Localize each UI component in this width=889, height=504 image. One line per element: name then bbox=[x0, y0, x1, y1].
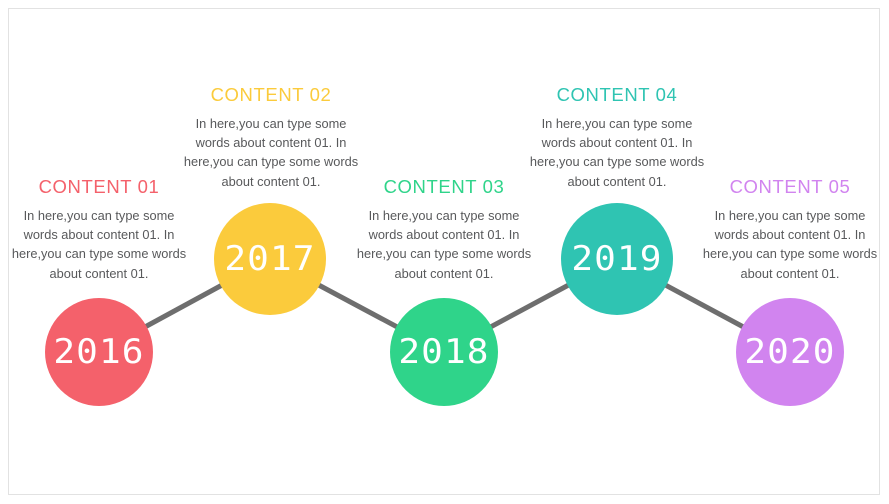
timeline-node-2020[interactable]: 2020 bbox=[736, 298, 844, 406]
content-body-4: In here,you can type some words about co… bbox=[527, 114, 707, 191]
timeline-node-2018[interactable]: 2018 bbox=[390, 298, 498, 406]
content-block-2: CONTENT 02 In here,you can type some wor… bbox=[181, 84, 361, 191]
content-body-2: In here,you can type some words about co… bbox=[181, 114, 361, 191]
node-year-label: 2020 bbox=[744, 335, 835, 369]
content-block-1: CONTENT 01 In here,you can type some wor… bbox=[9, 176, 189, 283]
node-year-label: 2018 bbox=[398, 335, 489, 369]
content-body-5: In here,you can type some words about co… bbox=[700, 206, 880, 283]
content-body-3: In here,you can type some words about co… bbox=[354, 206, 534, 283]
content-title-3: CONTENT 03 bbox=[354, 176, 534, 198]
content-block-4: CONTENT 04 In here,you can type some wor… bbox=[527, 84, 707, 191]
node-year-label: 2019 bbox=[571, 242, 662, 276]
content-body-1: In here,you can type some words about co… bbox=[9, 206, 189, 283]
timeline-node-2017[interactable]: 2017 bbox=[214, 203, 326, 315]
timeline-node-2019[interactable]: 2019 bbox=[561, 203, 673, 315]
content-title-2: CONTENT 02 bbox=[181, 84, 361, 106]
content-title-1: CONTENT 01 bbox=[9, 176, 189, 198]
node-year-label: 2016 bbox=[53, 335, 144, 369]
node-year-label: 2017 bbox=[224, 242, 315, 276]
infographic-canvas: CONTENT 01 In here,you can type some wor… bbox=[0, 0, 889, 504]
content-block-3: CONTENT 03 In here,you can type some wor… bbox=[354, 176, 534, 283]
content-title-4: CONTENT 04 bbox=[527, 84, 707, 106]
content-block-5: CONTENT 05 In here,you can type some wor… bbox=[700, 176, 880, 283]
timeline-node-2016[interactable]: 2016 bbox=[45, 298, 153, 406]
content-title-5: CONTENT 05 bbox=[700, 176, 880, 198]
